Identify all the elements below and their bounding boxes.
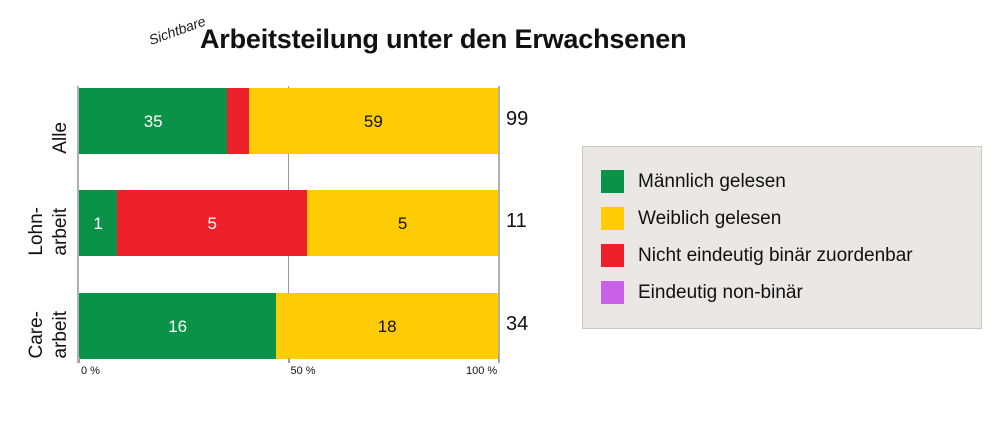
bar-segment: 1 xyxy=(79,190,117,256)
legend: Männlich gelesenWeiblich gelesenNicht ei… xyxy=(582,146,982,329)
legend-color-swatch xyxy=(601,281,624,304)
bar-segment: 18 xyxy=(276,293,498,359)
bar-row: 3559 xyxy=(79,88,498,154)
bar-segment-value: 1 xyxy=(93,215,102,232)
y-axis-category-label: Alle xyxy=(8,88,72,154)
bar-segment: 16 xyxy=(79,293,276,359)
bar-segment: 59 xyxy=(249,88,498,154)
y-axis-category-line: Lohn- xyxy=(26,207,48,256)
x-axis-tick-label: 100 % xyxy=(466,365,497,377)
row-total: 11 xyxy=(506,210,527,233)
title-area: Sichtbare Arbeitsteilung unter den Erwac… xyxy=(0,14,1000,60)
legend-color-swatch xyxy=(601,170,624,193)
x-axis-tick-label: 50 % xyxy=(291,365,316,377)
plot-right-border xyxy=(498,86,500,363)
bar-segment: 5 xyxy=(117,190,307,256)
x-axis-tick xyxy=(289,357,290,363)
bar-segment: 35 xyxy=(79,88,227,154)
legend-color-swatch xyxy=(601,207,624,230)
bar-segment: 5 xyxy=(307,190,498,256)
title-kicker: Sichtbare xyxy=(147,13,208,48)
x-axis-tick xyxy=(79,357,80,363)
legend-label: Weiblich gelesen xyxy=(638,208,781,230)
legend-item[interactable]: Nicht eindeutig binär zuordenbar xyxy=(601,237,963,274)
x-axis-tick xyxy=(498,357,499,363)
y-axis-category-line: Alle xyxy=(50,122,72,154)
bar-segment-value: 18 xyxy=(378,318,397,335)
y-axis-category-label: Lohn-arbeit xyxy=(8,190,72,256)
y-axis-category-label: Care-arbeit xyxy=(8,293,72,359)
y-axis-category-line: arbeit xyxy=(50,208,72,256)
bar-row: 155 xyxy=(79,190,498,256)
row-total: 99 xyxy=(506,108,528,131)
bar-segment-value: 16 xyxy=(168,318,187,335)
bar-segment-value: 35 xyxy=(144,113,163,130)
legend-label: Männlich gelesen xyxy=(638,171,786,193)
legend-label: Eindeutig non-binär xyxy=(638,282,803,304)
legend-label: Nicht eindeutig binär zuordenbar xyxy=(638,245,913,267)
y-axis-category-line: arbeit xyxy=(50,311,72,359)
gridline-50-percent xyxy=(288,154,289,190)
bar-segment-value: 5 xyxy=(398,215,407,232)
row-total: 34 xyxy=(506,313,528,336)
legend-item[interactable]: Männlich gelesen xyxy=(601,163,963,200)
plot-area: 35591551618 xyxy=(77,86,500,363)
bar-segment-value: 5 xyxy=(208,215,217,232)
bar-segment xyxy=(227,88,248,154)
bar-row: 1618 xyxy=(79,293,498,359)
bar-segment-value: 59 xyxy=(364,113,383,130)
legend-item[interactable]: Eindeutig non-binär xyxy=(601,274,963,311)
x-axis-tick-label: 0 % xyxy=(81,365,100,377)
chart-figure: Sichtbare Arbeitsteilung unter den Erwac… xyxy=(0,0,1000,431)
legend-color-swatch xyxy=(601,244,624,267)
page-title: Arbeitsteilung unter den Erwachsenen xyxy=(200,24,820,55)
gridline-50-percent xyxy=(288,256,289,293)
y-axis-category-line: Care- xyxy=(26,311,48,359)
legend-item[interactable]: Weiblich gelesen xyxy=(601,200,963,237)
